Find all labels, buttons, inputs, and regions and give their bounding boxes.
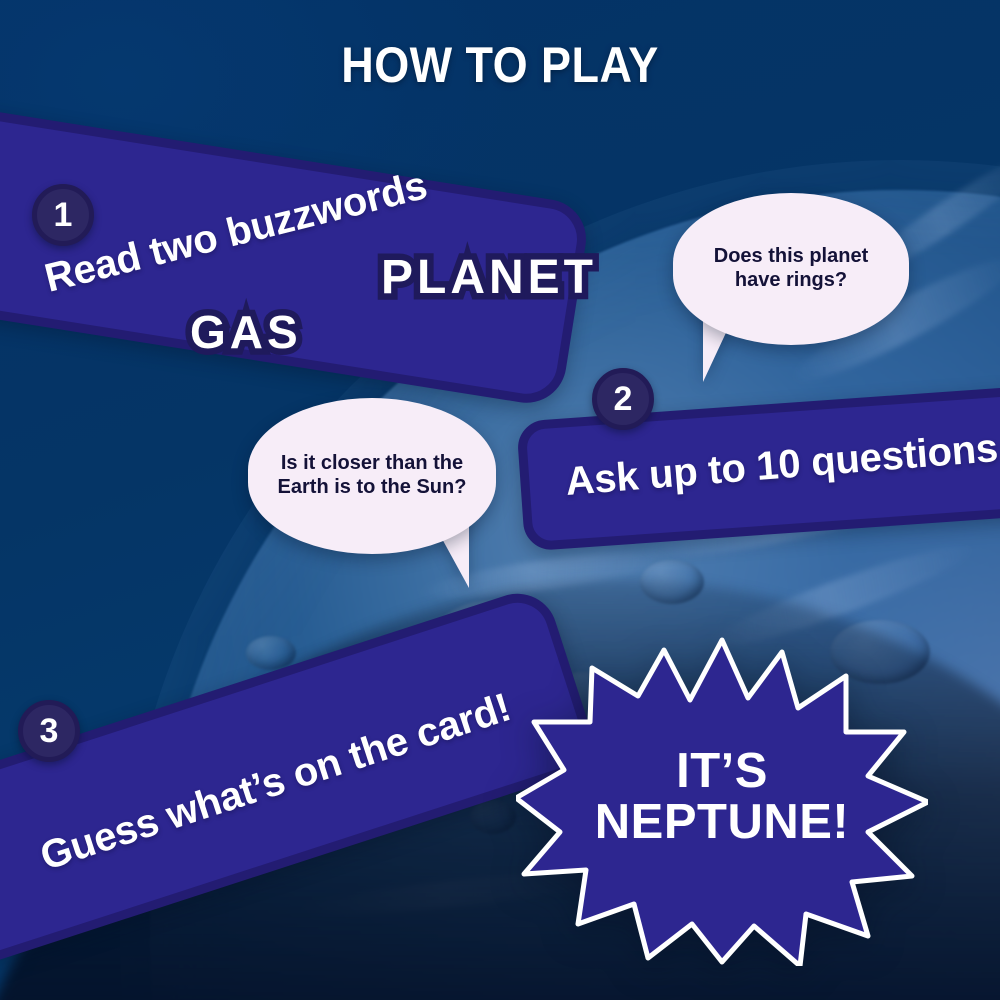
step-1-number-badge: 1 <box>32 184 94 246</box>
speech-bubble-sun: Is it closer than the Earth is to the Su… <box>248 398 496 554</box>
answer-starburst-shape <box>516 636 928 966</box>
speech-bubble-rings: Does this planet have rings? <box>673 193 909 345</box>
how-to-play-infographic: HOW TO PLAY Read two buzzwords 1 PLANET … <box>0 0 1000 1000</box>
speech-bubble-rings-text: Does this planet have rings? <box>673 245 909 292</box>
page-title: HOW TO PLAY <box>50 36 950 94</box>
buzzword-gas: GAS <box>190 305 302 359</box>
step-2-number-badge: 2 <box>592 368 654 430</box>
step-3-number-badge: 3 <box>18 700 80 762</box>
buzzword-planet: PLANET <box>381 250 597 305</box>
speech-bubble-sun-text: Is it closer than the Earth is to the Su… <box>248 452 496 499</box>
starburst-polygon <box>516 640 928 966</box>
